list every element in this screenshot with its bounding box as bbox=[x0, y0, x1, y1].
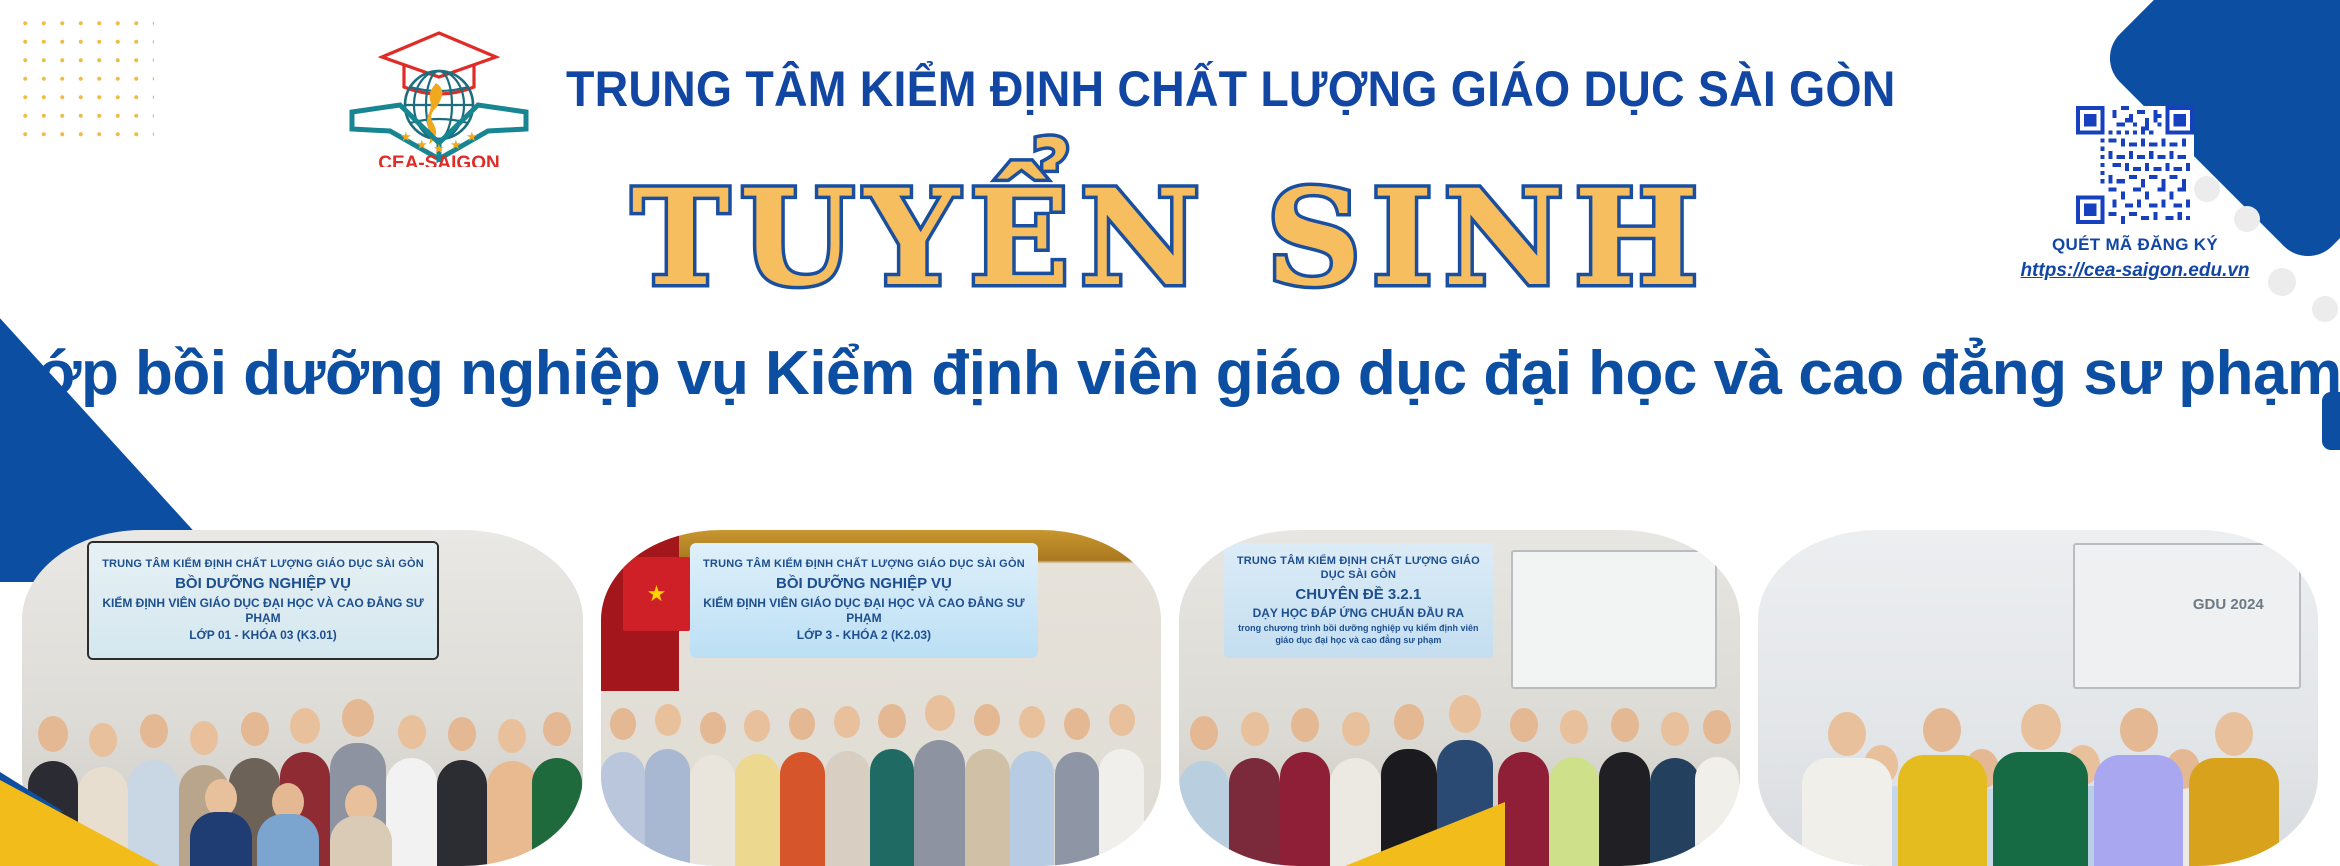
whiteboard-note: GDU 2024 bbox=[2167, 577, 2290, 631]
projected-slide: TRUNG TÂM KIỂM ĐỊNH CHẤT LƯỢNG GIÁO DỤC … bbox=[690, 543, 1038, 657]
qr-caption: QUÉT MÃ ĐĂNG KÝ bbox=[2020, 235, 2250, 255]
photo-crowd bbox=[601, 658, 1162, 866]
photo-crowd bbox=[1179, 658, 1740, 866]
slide-line1: CHUYÊN ĐỀ 3.2.1 bbox=[1295, 586, 1421, 605]
banner-header: ★★ ★★★ CEA-SAIGON TRUNG TÂM KIỂM ĐỊNH CH… bbox=[0, 24, 2340, 154]
projected-slide: TRUNG TÂM KIỂM ĐỊNH CHẤT LƯỢNG GIÁO DỤC … bbox=[1224, 543, 1493, 657]
svg-text:★: ★ bbox=[466, 130, 478, 145]
slide-line2: KIỂM ĐỊNH VIÊN GIÁO DỤC ĐẠI HỌC VÀ CAO Đ… bbox=[694, 596, 1034, 626]
qr-registration-block[interactable]: QUÉT MÃ ĐĂNG KÝ https://cea-saigon.edu.v… bbox=[2020, 106, 2250, 282]
photo-class-k3-01: TRUNG TÂM KIỂM ĐỊNH CHẤT LƯỢNG GIÁO DỤC … bbox=[22, 530, 583, 866]
logo-wordmark: CEA-SAIGON bbox=[379, 153, 500, 167]
slide-org: TRUNG TÂM KIỂM ĐỊNH CHẤT LƯỢNG GIÁO DỤC … bbox=[102, 558, 424, 572]
svg-text:★: ★ bbox=[400, 130, 412, 145]
photo-class-k2-03: ★ TRUNG TÂM KIỂM ĐỊNH CHẤT LƯỢNG GIÁO DỤ… bbox=[601, 530, 1162, 866]
slide-line3: trong chương trình bồi dưỡng nghiệp vụ k… bbox=[1228, 623, 1489, 646]
slide-line1: BỒI DƯỠNG NGHIỆP VỤ bbox=[175, 575, 351, 594]
slide-org: TRUNG TÂM KIỂM ĐỊNH CHẤT LƯỢNG GIÁO DỤC … bbox=[703, 558, 1025, 572]
photo-crowd bbox=[1758, 658, 2319, 866]
photo-seminar-321: TRUNG TÂM KIỂM ĐỊNH CHẤT LƯỢNG GIÁO DỤC … bbox=[1179, 530, 1740, 866]
slide-line2: DẠY HỌC ĐÁP ỨNG CHUẨN ĐẦU RA bbox=[1253, 606, 1465, 621]
slide-line3: LỚP 3 - KHÓA 2 (K2.03) bbox=[797, 628, 931, 643]
photo-crowd bbox=[22, 658, 583, 866]
slide-line3: LỚP 01 - KHÓA 03 (K3.01) bbox=[189, 628, 337, 643]
slide-org: TRUNG TÂM KIỂM ĐỊNH CHẤT LƯỢNG GIÁO DỤC … bbox=[1228, 555, 1489, 583]
registration-link[interactable]: https://cea-saigon.edu.vn bbox=[2020, 260, 2250, 282]
photo-gallery: TRUNG TÂM KIỂM ĐỊNH CHẤT LƯỢNG GIÁO DỤC … bbox=[0, 530, 2340, 866]
projected-slide: TRUNG TÂM KIỂM ĐỊNH CHẤT LƯỢNG GIÁO DỤC … bbox=[89, 543, 437, 657]
cea-saigon-logo: ★★ ★★★ CEA-SAIGON bbox=[344, 19, 534, 159]
qr-code-icon[interactable] bbox=[2076, 106, 2194, 224]
headline-block: TUYỂN SINH bbox=[0, 172, 2340, 307]
photo-group-small: GDU 2024 bbox=[1758, 530, 2319, 866]
page-title: TUYỂN SINH bbox=[631, 172, 1708, 307]
svg-text:★: ★ bbox=[450, 138, 462, 153]
organization-title: TRUNG TÂM KIỂM ĐỊNH CHẤT LƯỢNG GIÁO DỤC … bbox=[566, 60, 1896, 118]
slide-line2: KIỂM ĐỊNH VIÊN GIÁO DỤC ĐẠI HỌC VÀ CAO Đ… bbox=[93, 596, 433, 626]
slide-line1: BỒI DƯỠNG NGHIỆP VỤ bbox=[776, 575, 952, 594]
svg-text:★: ★ bbox=[416, 138, 428, 153]
course-subtitle: Lớp bồi dưỡng nghiệp vụ Kiểm định viên g… bbox=[0, 338, 2340, 409]
admissions-banner: ★★ ★★★ CEA-SAIGON TRUNG TÂM KIỂM ĐỊNH CH… bbox=[0, 0, 2340, 866]
slide-line3: GDU 2024 bbox=[2193, 596, 2264, 615]
vietnam-flag: ★ bbox=[623, 557, 690, 631]
